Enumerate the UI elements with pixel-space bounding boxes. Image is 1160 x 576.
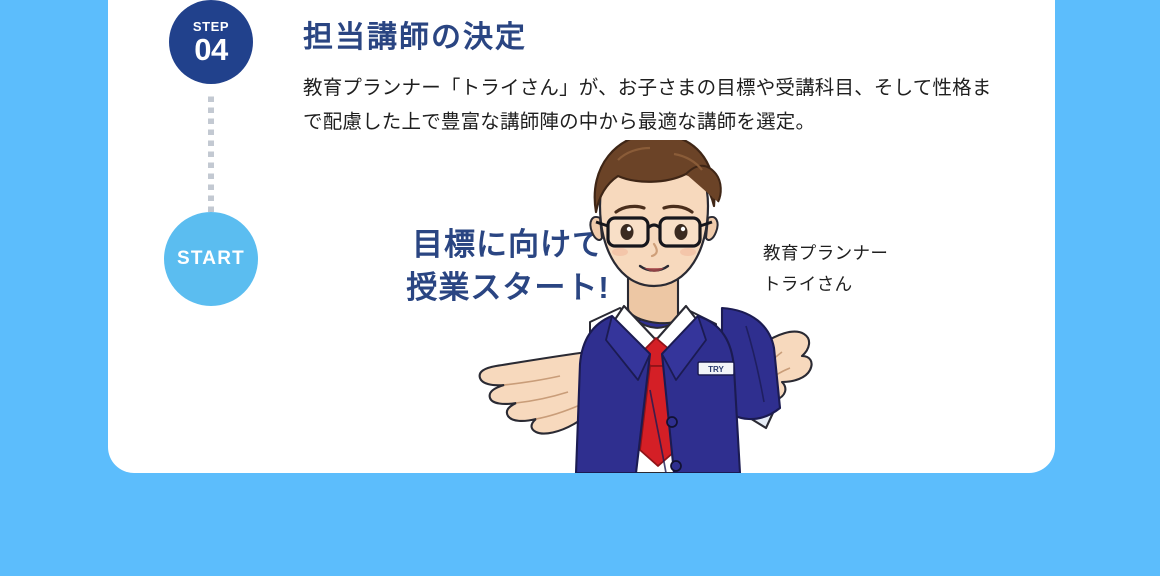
content-card: STEP 04 START 担当講師の決定 教育プランナー「トライさん」が、お子… [108,0,1055,473]
step-badge-number: 04 [194,34,227,65]
name-badge-on-suit: TRY [698,362,734,375]
planner-character-illustration: TRY [460,140,820,473]
step-description: 教育プランナー「トライさん」が、お子さまの目標や受講科目、そして性格まで配慮した… [303,72,1003,139]
step-badge: STEP 04 [169,0,253,84]
step-badge-word: STEP [193,20,229,33]
page-title: 担当講師の決定 [303,12,1003,56]
step-timeline-rail: STEP 04 START [164,0,274,420]
page-root: STEP 04 START 担当講師の決定 教育プランナー「トライさん」が、お子… [0,0,1160,576]
step-text-column: 担当講師の決定 教育プランナー「トライさん」が、お子さまの目標や受講科目、そして… [303,12,1003,139]
start-badge-label: START [177,248,245,270]
start-badge: START [164,212,258,306]
svg-text:TRY: TRY [708,365,724,374]
